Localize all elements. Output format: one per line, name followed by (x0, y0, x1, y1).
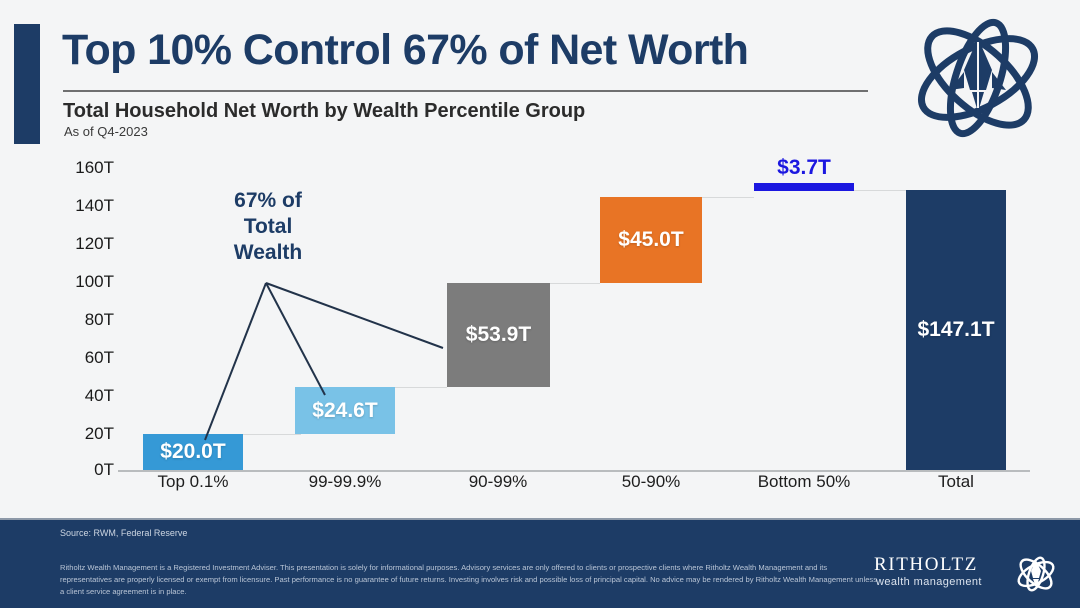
bar-value-label: $147.1T (917, 318, 994, 342)
ritholtz-orbit-logo (890, 12, 1066, 144)
bar-50-90[interactable]: $45.0T (600, 197, 702, 283)
x-tick-bottom-50: Bottom 50% (758, 472, 851, 492)
page-title: Top 10% Control 67% of Net Worth (62, 28, 872, 73)
y-tick-80: 80T (52, 310, 114, 330)
y-tick-140: 140T (52, 196, 114, 216)
x-tick-total: Total (938, 472, 974, 492)
title-accent-bar (14, 24, 40, 144)
y-tick-120: 120T (52, 234, 114, 254)
chart-plot-area: 0T 20T 40T 60T 80T 100T 120T 140T 160T $… (0, 150, 1080, 510)
connector-5 (854, 190, 906, 191)
y-tick-60: 60T (52, 348, 114, 368)
x-tick-50-90: 50-90% (622, 472, 681, 492)
bar-value-label: $24.6T (312, 399, 377, 423)
annotation-callout: 67% of Total Wealth (198, 188, 338, 266)
bar-value-label: $20.0T (160, 440, 225, 464)
x-tick-90-99: 90-99% (469, 472, 528, 492)
connector-4 (702, 197, 754, 198)
footer-brand-name: RITHOLTZ (874, 554, 978, 576)
bar-value-label: $53.9T (466, 323, 531, 347)
title-divider (63, 90, 868, 92)
x-axis-line (118, 470, 1030, 472)
bar-total[interactable]: $147.1T (906, 190, 1006, 470)
page-subtitle: Total Household Net Worth by Wealth Perc… (63, 100, 873, 123)
bar-99-99-9[interactable]: $24.6T (295, 387, 395, 434)
footer-brand-tagline: wealth management (876, 576, 982, 588)
connector-1 (243, 434, 301, 435)
bar-bottom-50[interactable]: $3.7T (754, 183, 854, 191)
slide-canvas: Top 10% Control 67% of Net Worth Total H… (0, 0, 1080, 608)
bar-value-label: $45.0T (618, 228, 683, 252)
bar-90-99[interactable]: $53.9T (447, 283, 550, 387)
footer-divider (0, 518, 1080, 520)
y-tick-0: 0T (52, 460, 114, 480)
bar-bottom-50-value-label: $3.7T (777, 156, 831, 180)
connector-3 (550, 283, 600, 284)
annotation-line-1: 67% of (198, 188, 338, 214)
y-tick-20: 20T (52, 424, 114, 444)
disclaimer-text: Ritholtz Wealth Management is a Register… (60, 562, 880, 597)
y-tick-100: 100T (52, 272, 114, 292)
footer-orbit-icon (1010, 552, 1062, 596)
x-tick-99-99-9: 99-99.9% (309, 472, 382, 492)
y-tick-160: 160T (52, 158, 114, 178)
x-tick-top-0-1: Top 0.1% (158, 472, 229, 492)
annotation-line-3: Wealth (198, 240, 338, 266)
bar-top-0-1[interactable]: $20.0T (143, 434, 243, 470)
footer-brand-logo: RITHOLTZ wealth management (874, 552, 1064, 598)
as-of-date: As of Q4-2023 (64, 124, 148, 139)
y-tick-40: 40T (52, 386, 114, 406)
annotation-line-2: Total (198, 214, 338, 240)
source-note: Source: RWM, Federal Reserve (60, 528, 187, 538)
connector-2 (395, 387, 447, 388)
